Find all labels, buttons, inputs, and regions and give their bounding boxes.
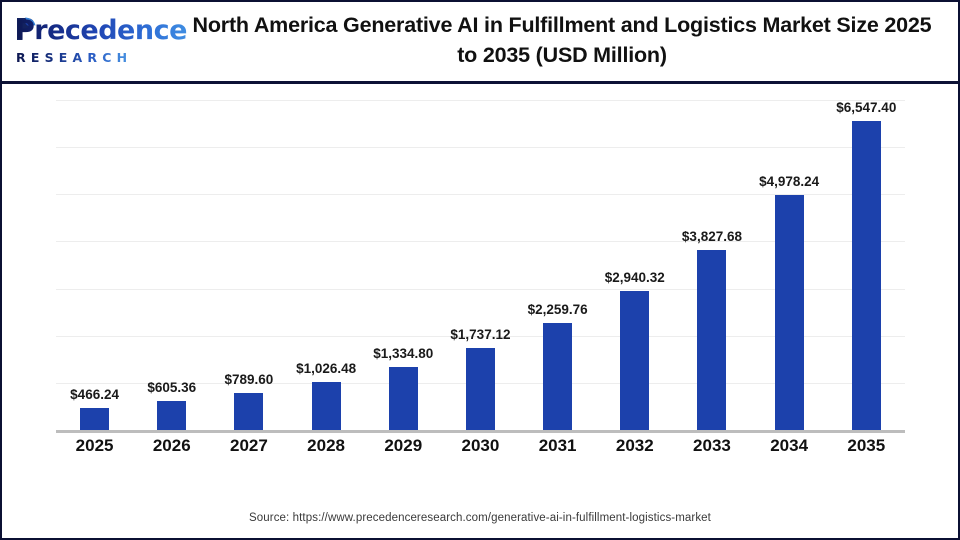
axis-baseline bbox=[56, 430, 905, 433]
bar[interactable] bbox=[697, 250, 726, 430]
bar[interactable] bbox=[312, 382, 341, 430]
bar-series: $466.24$605.36$789.60$1,026.48$1,334.80$… bbox=[56, 100, 905, 430]
x-axis-label: 2034 bbox=[751, 436, 828, 456]
bar[interactable] bbox=[80, 408, 109, 430]
x-axis-tick-labels: 2025202620272028202920302031203220332034… bbox=[56, 436, 905, 456]
bar[interactable] bbox=[620, 291, 649, 430]
bar-column[interactable]: $1,737.12 bbox=[442, 100, 519, 430]
bar[interactable] bbox=[157, 401, 186, 430]
page-title: North America Generative AI in Fulfillme… bbox=[182, 10, 942, 70]
precedence-research-logo: Precedence RESEARCH bbox=[12, 14, 172, 72]
logo-wordmark: Precedence RESEARCH bbox=[12, 14, 172, 48]
x-axis-label: 2033 bbox=[673, 436, 750, 456]
bar-column[interactable]: $1,026.48 bbox=[288, 100, 365, 430]
chart-page: Precedence RESEARCH North America Genera… bbox=[0, 0, 960, 540]
x-axis-label: 2035 bbox=[828, 436, 905, 456]
bar[interactable] bbox=[466, 348, 495, 430]
x-axis-label: 2026 bbox=[133, 436, 210, 456]
bar-column[interactable]: $789.60 bbox=[210, 100, 287, 430]
bar-column[interactable]: $2,940.32 bbox=[596, 100, 673, 430]
x-axis-label: 2029 bbox=[365, 436, 442, 456]
bar[interactable] bbox=[775, 195, 804, 430]
header: Precedence RESEARCH North America Genera… bbox=[2, 2, 958, 84]
bar-value-label: $6,547.40 bbox=[796, 100, 936, 115]
x-axis-label: 2032 bbox=[596, 436, 673, 456]
bar-column[interactable]: $4,978.24 bbox=[751, 100, 828, 430]
bar-column[interactable]: $2,259.76 bbox=[519, 100, 596, 430]
bar[interactable] bbox=[389, 367, 418, 430]
bar[interactable] bbox=[852, 121, 881, 430]
x-axis-label: 2027 bbox=[210, 436, 287, 456]
bar-column[interactable]: $3,827.68 bbox=[673, 100, 750, 430]
logo-subtitle: RESEARCH bbox=[16, 50, 132, 65]
x-axis-label: 2030 bbox=[442, 436, 519, 456]
chart-area: $466.24$605.36$789.60$1,026.48$1,334.80$… bbox=[2, 84, 958, 454]
bar[interactable] bbox=[543, 323, 572, 430]
bar-column[interactable]: $6,547.40 bbox=[828, 100, 905, 430]
source-caption: Source: https://www.precedenceresearch.c… bbox=[2, 512, 958, 524]
bar-column[interactable]: $1,334.80 bbox=[365, 100, 442, 430]
plot-area: $466.24$605.36$789.60$1,026.48$1,334.80$… bbox=[56, 100, 905, 430]
x-axis-label: 2031 bbox=[519, 436, 596, 456]
bar[interactable] bbox=[234, 393, 263, 430]
x-axis-label: 2025 bbox=[56, 436, 133, 456]
logo-name: Precedence bbox=[15, 16, 187, 46]
x-axis-label: 2028 bbox=[288, 436, 365, 456]
